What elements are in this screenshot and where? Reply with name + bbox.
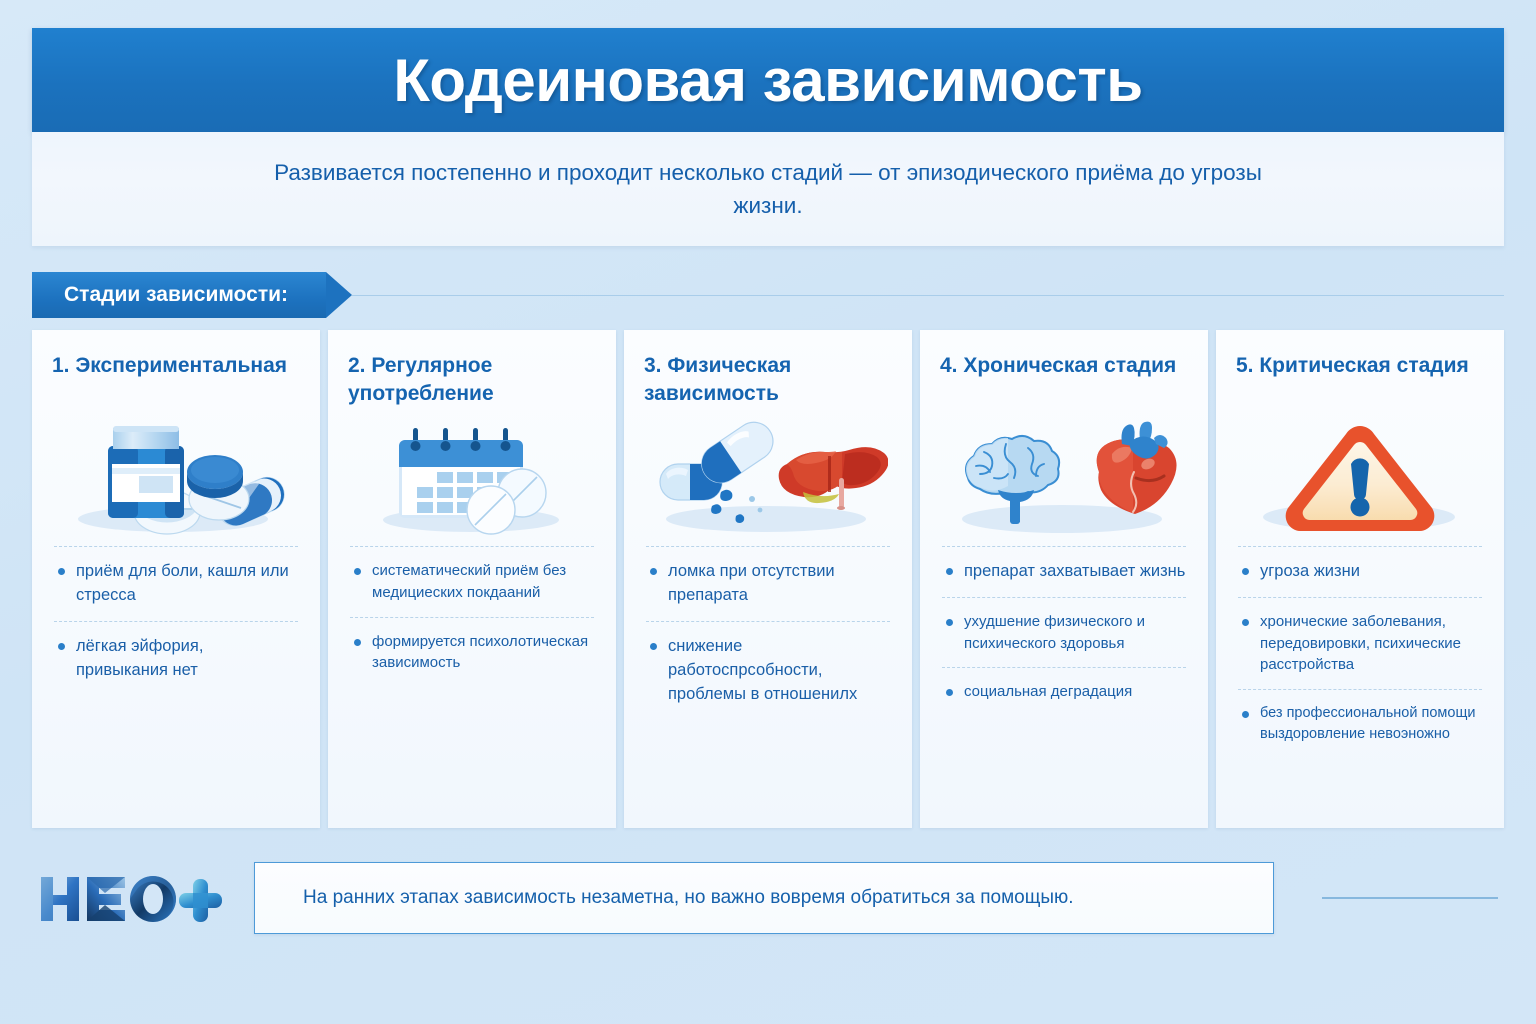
bullet-dot-icon: [946, 619, 953, 626]
infographic-poster: Кодеиновая зависимость Развивается посте…: [0, 0, 1536, 1024]
stage-card-5[interactable]: 5. Критическая стадия: [1216, 330, 1504, 828]
list-item: социальная деградация: [940, 668, 1188, 716]
capsule-liver-icon: [644, 418, 892, 536]
stage-card-2-title: 2. Регулярное употребление: [348, 352, 596, 410]
stage-card-5-bullets: угроза жизни хронические заболевания, пе…: [1236, 546, 1484, 810]
bullet-dot-icon: [58, 643, 65, 650]
section-header-row: Стадии зависимости:: [32, 272, 1504, 318]
section-tag: Стадии зависимости:: [32, 272, 326, 318]
bullet-dot-icon: [650, 568, 657, 575]
neo-plus-logo[interactable]: [32, 867, 228, 929]
stages-card-grid: 1. Экспериментальная: [32, 330, 1504, 828]
bullet-dot-icon: [650, 643, 657, 650]
list-item: систематический приём без медициеских по…: [348, 547, 596, 617]
stage-card-1[interactable]: 1. Экспериментальная: [32, 330, 320, 828]
stage-card-2-bullets: систематический приём без медициеских по…: [348, 546, 596, 810]
calendar-pills-icon: [348, 418, 596, 536]
list-item: лёгкая эйфория, привыкания нет: [52, 622, 300, 696]
bullet-dot-icon: [1242, 619, 1249, 626]
stage-card-5-title: 5. Критическая стадия: [1236, 352, 1484, 410]
stage-card-1-title: 1. Экспериментальная: [52, 352, 300, 410]
stage-card-4[interactable]: 4. Хроническая стадия: [920, 330, 1208, 828]
footer-note-text: На ранних этапах зависимость незаметна, …: [303, 885, 1074, 911]
stage-card-3[interactable]: 3. Физическая зависимость: [624, 330, 912, 828]
subtitle-text: Развивается постепенно и проходит нескол…: [268, 156, 1268, 223]
footer-note-box: На ранних этапах зависимость незаметна, …: [254, 862, 1274, 934]
stage-card-2[interactable]: 2. Регулярное употребление: [328, 330, 616, 828]
bullet-text: ухудшение физического и психического здо…: [964, 611, 1186, 655]
list-item: приём для боли, кашля или стресса: [52, 547, 300, 621]
bullet-text: хронические заболевания, передовировки, …: [1260, 611, 1482, 676]
list-item: формируется психолотическая зависимость: [348, 618, 596, 688]
bullet-text: формируется психолотическая зависимость: [372, 631, 594, 675]
list-item: ухудшение физического и психического здо…: [940, 598, 1188, 668]
bullet-text: ломка при отсутствии препарата: [668, 560, 890, 608]
bullet-text: приём для боли, кашля или стресса: [76, 560, 298, 608]
bullet-dot-icon: [1242, 568, 1249, 575]
bullet-text: лёгкая эйфория, привыкания нет: [76, 635, 298, 683]
brain-heart-icon: [940, 418, 1188, 536]
bullet-text: социальная деградация: [964, 681, 1186, 703]
stage-card-3-bullets: ломка при отсутствии препарата снижение …: [644, 546, 892, 810]
bullet-text: угроза жизни: [1260, 560, 1482, 584]
list-item: хронические заболевания, передовировки, …: [1236, 598, 1484, 689]
footer-divider-line: [1322, 897, 1498, 899]
warning-triangle-icon: [1236, 418, 1484, 536]
section-divider-line: [352, 295, 1504, 296]
bullet-dot-icon: [354, 568, 361, 575]
stage-card-4-title: 4. Хроническая стадия: [940, 352, 1188, 410]
subtitle-band: Развивается постепенно и проходит нескол…: [32, 132, 1504, 246]
list-item: без профессиональной помощи выздоровлени…: [1236, 690, 1484, 758]
page-title: Кодеиновая зависимость: [393, 46, 1142, 115]
bullet-dot-icon: [354, 639, 361, 646]
header-band: Кодеиновая зависимость: [32, 28, 1504, 132]
list-item: ломка при отсутствии препарата: [644, 547, 892, 621]
bullet-dot-icon: [58, 568, 65, 575]
bullet-dot-icon: [946, 689, 953, 696]
bullet-dot-icon: [946, 568, 953, 575]
list-item: снижение работоспрсобности, проблемы в о…: [644, 622, 892, 720]
bullet-dot-icon: [1242, 711, 1249, 718]
bullet-text: систематический приём без медициеских по…: [372, 560, 594, 604]
list-item: угроза жизни: [1236, 547, 1484, 597]
stage-card-4-bullets: препарат захватывает жизнь ухудшение физ…: [940, 546, 1188, 810]
bullet-text: снижение работоспрсобности, проблемы в о…: [668, 635, 890, 707]
bullet-text: без профессиональной помощи выздоровлени…: [1260, 703, 1482, 745]
list-item: препарат захватывает жизнь: [940, 547, 1188, 597]
stage-card-1-bullets: приём для боли, кашля или стресса лёгкая…: [52, 546, 300, 810]
footer: На ранних этапах зависимость незаметна, …: [32, 846, 1504, 950]
stage-card-3-title: 3. Физическая зависимость: [644, 352, 892, 410]
bullet-text: препарат захватывает жизнь: [964, 560, 1186, 584]
pill-bottle-icon: [52, 418, 300, 536]
section-tag-label: Стадии зависимости:: [64, 283, 288, 307]
